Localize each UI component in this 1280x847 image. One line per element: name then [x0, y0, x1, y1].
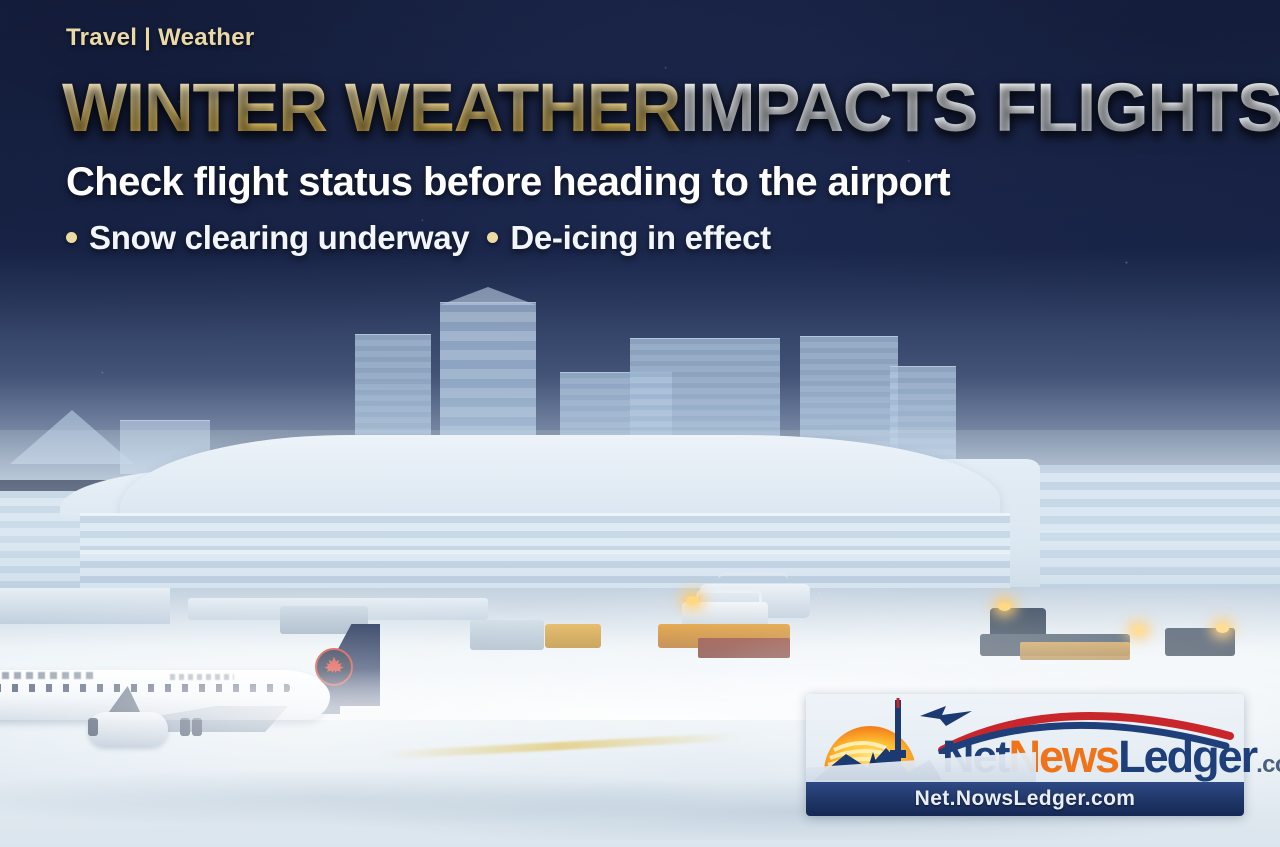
apron-building [0, 588, 170, 624]
landing-gear [192, 718, 202, 736]
airport-terminal [0, 425, 1280, 615]
subheadline: Check flight status before heading to th… [66, 160, 1246, 205]
headline-copy-block: Travel | Weather WINTER WEATHERIMPACTS F… [66, 24, 1246, 257]
beacon-light-icon [998, 602, 1011, 611]
plow-cab [682, 602, 768, 626]
terminal-glass-facade [80, 513, 1010, 595]
headline-gold-part: WINTER WEATHER [62, 69, 680, 146]
bullet-item-1: Snow clearing underway [89, 219, 469, 257]
bullet-item-2: De-icing in effect [510, 219, 770, 257]
bullet-list: Snow clearing underway De-icing in effec… [66, 219, 1246, 257]
beacon-light-icon [1216, 624, 1229, 633]
landing-gear [180, 718, 190, 736]
netnewsledger-logo[interactable]: NetNewsLedger.com® Net.NowsLedger.com [806, 694, 1244, 816]
logo-url-band[interactable]: Net.NowsLedger.com [806, 782, 1244, 816]
landing-gear [88, 718, 98, 736]
logo-url-text: Net.NowsLedger.com [915, 787, 1136, 811]
page-title: WINTER WEATHERIMPACTS FLIGHTS [62, 74, 1246, 142]
logo-word-com: .com [1256, 751, 1280, 778]
logo-word-ledger: Ledger [1118, 731, 1256, 782]
category-kicker: Travel | Weather [66, 24, 1246, 52]
bullet-dot-icon [487, 232, 498, 243]
headline-white-part: IMPACTS FLIGHTS [680, 69, 1280, 146]
news-graphic-stage: Travel | Weather WINTER WEATHERIMPACTS F… [0, 0, 1280, 847]
beacon-light-icon [1132, 626, 1145, 635]
terminal-curved-roof [120, 435, 1000, 521]
bullet-dot-icon [66, 232, 77, 243]
beacon-light-icon [686, 596, 699, 605]
